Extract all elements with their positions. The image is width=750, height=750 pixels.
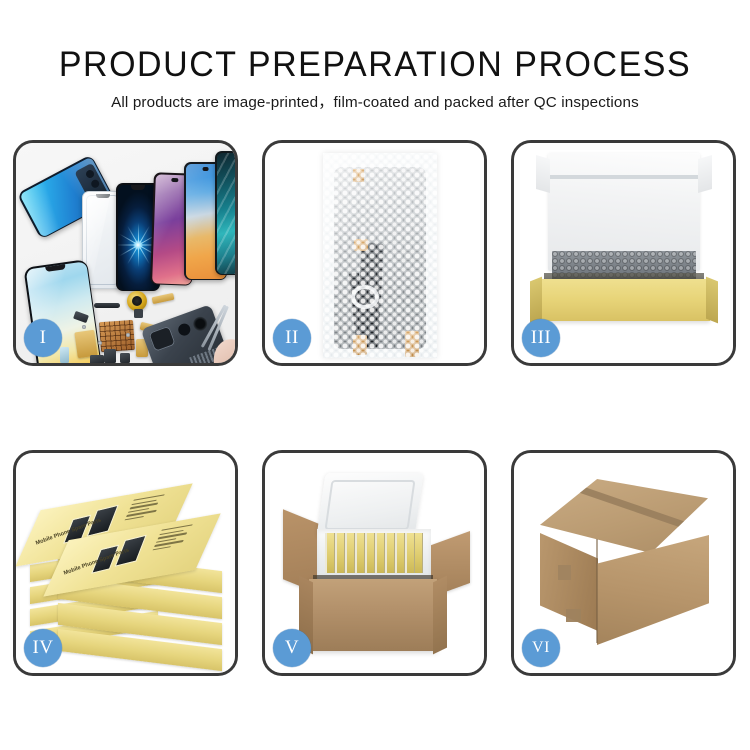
styrofoam-lid xyxy=(317,473,424,537)
process-step-card-6: VI xyxy=(511,450,736,676)
box-spec-text-block-1 xyxy=(123,494,167,523)
carton-body xyxy=(309,579,437,651)
product-preparation-infographic: PRODUCT PREPARATION PROCESS All products… xyxy=(0,0,750,750)
carton-vertical-edge xyxy=(596,539,598,643)
step-4-photo: Mobile Phone Spare Parts Mobile Phone Sp… xyxy=(16,453,235,673)
yellow-boxes-inside xyxy=(325,533,423,573)
screw-part-1 xyxy=(98,341,102,345)
screw-part-2 xyxy=(126,333,130,337)
process-step-card-3: III xyxy=(511,140,736,366)
step-5-badge: V xyxy=(273,629,311,667)
process-steps-grid: I II xyxy=(13,140,737,676)
step-3-badge: III xyxy=(522,319,560,357)
sim-tray-part xyxy=(60,347,69,363)
step-2-badge: II xyxy=(273,319,311,357)
step-6-badge: VI xyxy=(522,629,560,667)
carton-tape-patch-1 xyxy=(558,565,571,580)
step-1-photo: I xyxy=(16,143,235,363)
step-3-photo: III xyxy=(514,143,733,363)
step-4-badge: IV xyxy=(24,629,62,667)
chip-part-1 xyxy=(104,349,116,363)
step-5-photo: V xyxy=(265,453,484,673)
speaker-coil-part xyxy=(127,291,147,311)
page-subtitle: All products are image-printed，film-coat… xyxy=(0,82,750,110)
bubble-wrapped-screen xyxy=(323,153,437,358)
step-6-photo: VI xyxy=(514,453,733,673)
chip-part-3 xyxy=(90,355,104,363)
plastic-sheen xyxy=(323,153,437,358)
carton-tape-patch-2 xyxy=(566,609,581,622)
process-step-card-2: II xyxy=(262,140,487,366)
box-spec-text-block-2 xyxy=(151,524,195,553)
sealed-carton-right-face xyxy=(597,535,709,645)
process-step-card-1: I xyxy=(13,140,238,366)
teal-wave-phone xyxy=(215,151,235,275)
header: PRODUCT PREPARATION PROCESS All products… xyxy=(0,0,750,110)
yellow-box-front xyxy=(538,279,710,321)
step-1-badge: I xyxy=(24,319,62,357)
step-2-photo: II xyxy=(265,143,484,363)
flex-cable-part-3 xyxy=(74,330,97,359)
chip-part-5 xyxy=(134,309,143,318)
flex-cable-part-1 xyxy=(152,293,175,304)
process-step-card-4: Mobile Phone Spare Parts Mobile Phone Sp… xyxy=(13,450,238,676)
page-title: PRODUCT PREPARATION PROCESS xyxy=(11,0,739,82)
process-step-card-5: V xyxy=(262,450,487,676)
earpiece-mesh-part xyxy=(94,303,120,308)
chip-part-2 xyxy=(120,353,130,363)
screw-part-3 xyxy=(82,325,86,329)
